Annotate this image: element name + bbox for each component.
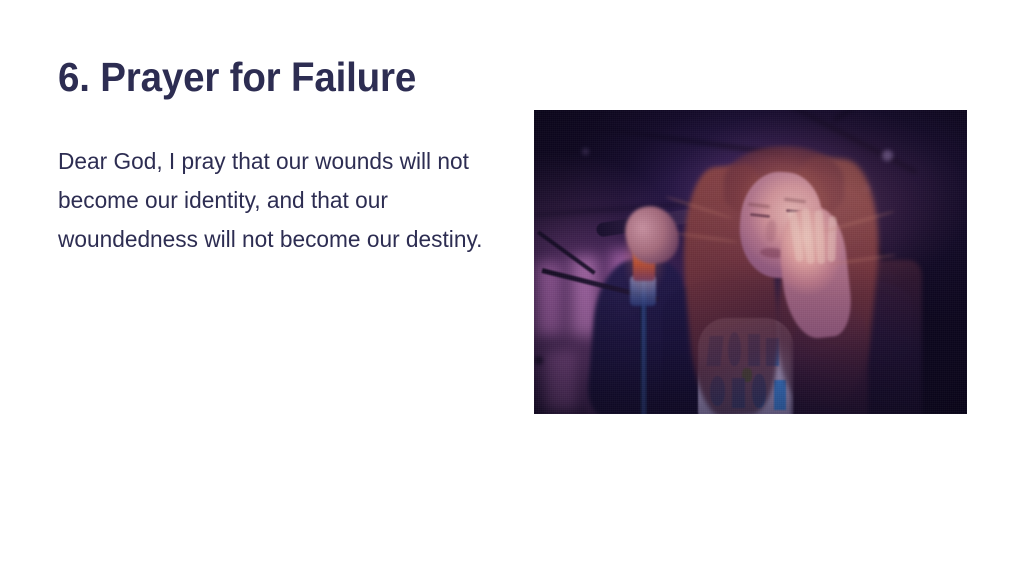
photo-film-grain: [534, 110, 967, 414]
page-title: 6. Prayer for Failure: [58, 55, 500, 101]
slide-text-column: 6. Prayer for Failure Dear God, I pray t…: [58, 55, 528, 259]
slide-body-text: Dear God, I pray that our wounds will no…: [58, 101, 508, 259]
stage-performance-photo: [534, 110, 967, 414]
presentation-slide: 6. Prayer for Failure Dear God, I pray t…: [0, 0, 1024, 576]
